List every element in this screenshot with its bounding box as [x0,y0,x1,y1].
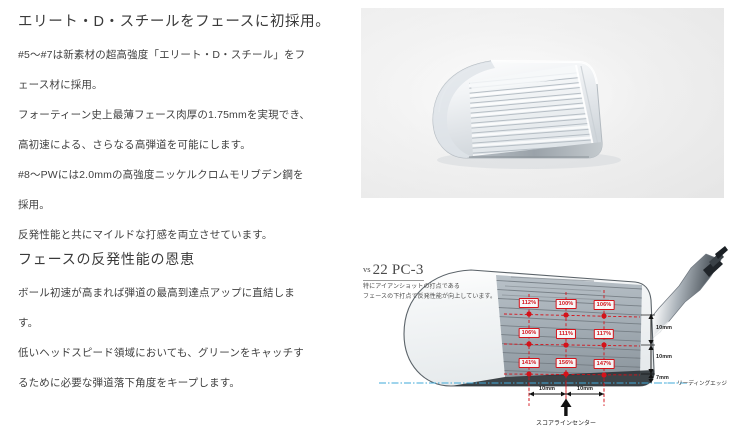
body-line: 採用。 [18,196,341,216]
rebound-media-column: vs22 PC-3 特にアイアンショットの打点である フェースの下打点で反発性能… [355,240,731,441]
face-material-media-column [355,0,731,228]
section-title: フェースの反発性能の恩恵 [18,250,341,270]
diagram-title-prefix: vs [363,264,371,274]
leading-edge-label: リーディングエッジ [677,379,727,387]
value-badge: 106% [594,300,615,310]
diagram-caption-line: 特にアイアンショットの打点である [363,283,496,293]
page-title: エリート・D・スチールをフェースに初採用。 [18,12,341,32]
diagram-title: vs22 PC-3 [363,262,424,281]
body-line: るために必要な弾道落下角度をキープします。 [18,374,341,394]
value-badge: 147% [594,359,615,369]
value-badge: 112% [519,298,539,308]
value-badge: 156% [556,358,577,368]
body-line: #8〜PWには2.0mmの高強度ニッケルクロムモリブデン鋼を [18,166,341,186]
dimension-label-vertical: 10mm [656,354,672,360]
face-rebound-diagram: vs22 PC-3 特にアイアンショットの打点である フェースの下打点で反発性能… [359,246,730,432]
face-material-text-column: エリート・D・スチールをフェースに初採用。 #5〜#7は新素材の超高強度「エリー… [0,0,355,228]
body-line: #5〜#7は新素材の超高強度「エリート・D・スチール」をフ [18,46,341,66]
section-face-material: エリート・D・スチールをフェースに初採用。 #5〜#7は新素材の超高強度「エリー… [0,0,731,228]
dimension-label-vertical: 7mm [656,375,669,381]
value-badge: 106% [519,328,540,338]
body-line: フォーティーン史上最薄フェース肉厚の1.75mmを実現でき、 [18,106,341,126]
body-line: ェース材に採用。 [18,76,341,96]
diagram-title-main: 22 PC-3 [373,262,424,278]
body-line: ボール初速が高まれば弾道の最高到達点アップに直結しま [18,284,341,304]
scoreline-center-label: スコアラインセンター [536,418,596,427]
value-badge: 100% [556,299,577,309]
clubhead-photo [361,8,724,198]
value-badge: 117% [594,329,614,339]
product-feature-page: エリート・D・スチールをフェースに初採用。 #5〜#7は新素材の超高強度「エリー… [0,0,731,441]
body-line: 高初速による、さらなる高弾道を可能にします。 [18,136,341,156]
diagram-caption-line: フェースの下打点で反発性能が向上しています。 [363,293,496,303]
clubhead-illustration [361,8,724,198]
value-badge: 141% [519,358,540,368]
value-badge: 111% [556,329,576,339]
section-rebound-performance: フェースの反発性能の恩恵 ボール初速が高まれば弾道の最高到達点アップに直結しま … [0,240,731,441]
body-line: す。 [18,314,341,334]
diagram-caption: 特にアイアンショットの打点である フェースの下打点で反発性能が向上しています。 [363,283,496,302]
rebound-text-column: フェースの反発性能の恩恵 ボール初速が高まれば弾道の最高到達点アップに直結しま … [0,240,355,441]
dimension-label-horizontal: 10mm [577,386,593,392]
dimension-label-horizontal: 10mm [539,386,555,392]
dimension-label-vertical: 10mm [656,325,672,331]
body-line: 低いヘッドスピード領域においても、グリーンをキャッチす [18,344,341,364]
